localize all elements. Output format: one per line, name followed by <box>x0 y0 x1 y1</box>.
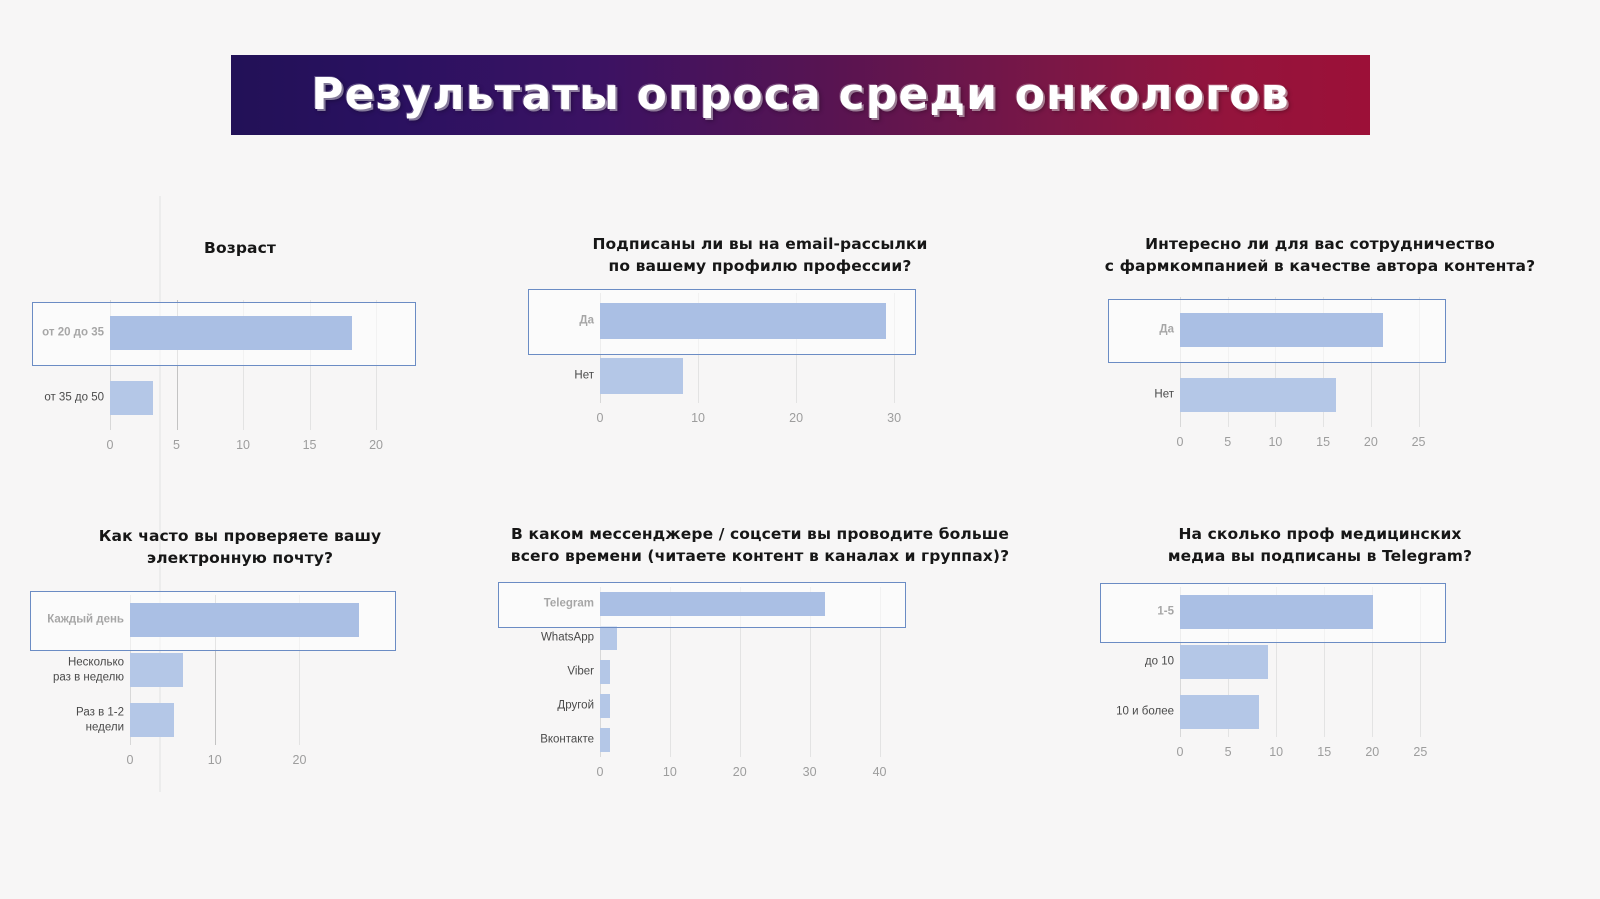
chart-title: На сколько проф медицинских медиа вы под… <box>1040 523 1600 567</box>
x-tick-0: 0 <box>1177 435 1184 449</box>
bar-row: Другой <box>600 689 890 723</box>
x-axis-tick-labels: 010203040 <box>600 765 890 785</box>
chart-title: Возраст <box>0 237 480 259</box>
bar-1[interactable] <box>130 653 183 687</box>
bar-0[interactable] <box>600 303 886 339</box>
x-axis-tick-labels: 05101520 <box>110 438 400 458</box>
x-axis-tick-labels: 0510152025 <box>1180 745 1430 765</box>
bar-row: Раз в 1-2 недели <box>130 695 380 745</box>
x-axis-tick-labels: 0510152025 <box>1180 435 1430 455</box>
category-label: от 20 до 35 <box>16 325 104 340</box>
category-label: от 35 до 50 <box>16 390 104 405</box>
chart-title: В каком мессенджере / соцсети вы проводи… <box>480 523 1040 567</box>
bar-row: Нет <box>600 348 900 403</box>
bar-row: до 10 <box>1180 637 1430 687</box>
bar-row: 1-5 <box>1180 587 1430 637</box>
x-tick-20: 20 <box>1365 745 1379 759</box>
bar-row: Нет <box>1180 362 1430 427</box>
x-tick-15: 15 <box>1317 745 1331 759</box>
plot-area: 1-5до 1010 и более0510152025 <box>1180 587 1430 737</box>
chart-row: Как часто вы проверяете вашу электронную… <box>0 495 1600 795</box>
bar-0[interactable] <box>1180 313 1383 347</box>
chart-title: Как часто вы проверяете вашу электронную… <box>0 525 480 569</box>
category-label: 10 и более <box>1094 705 1174 720</box>
bar-row: WhatsApp <box>600 621 890 655</box>
category-label: Telegram <box>492 597 594 612</box>
bar-row: Telegram <box>600 587 890 621</box>
plot-area: ДаНет0102030 <box>600 293 900 403</box>
x-tick-10: 10 <box>691 411 705 425</box>
bar-1[interactable] <box>600 626 617 650</box>
bar-row: 10 и более <box>1180 687 1430 737</box>
category-label: WhatsApp <box>492 631 594 646</box>
x-tick-10: 10 <box>1268 435 1282 449</box>
bar-2[interactable] <box>1180 695 1259 729</box>
bar-1[interactable] <box>1180 378 1336 412</box>
x-tick-20: 20 <box>369 438 383 452</box>
x-tick-0: 0 <box>107 438 114 452</box>
x-tick-10: 10 <box>236 438 250 452</box>
x-tick-0: 0 <box>597 765 604 779</box>
chart-messenger-usage: В каком мессенджере / соцсети вы проводи… <box>480 495 1040 795</box>
chart-title: Интересно ли для вас сотрудничество с фа… <box>1040 233 1600 277</box>
x-tick-5: 5 <box>173 438 180 452</box>
bar-row: Да <box>600 293 900 348</box>
category-label: Нет <box>1102 387 1174 402</box>
x-tick-30: 30 <box>887 411 901 425</box>
category-label: до 10 <box>1094 655 1174 670</box>
category-label: Каждый день <box>24 613 124 628</box>
x-tick-20: 20 <box>733 765 747 779</box>
category-label: Другой <box>492 699 594 714</box>
bar-1[interactable] <box>1180 645 1268 679</box>
x-tick-10: 10 <box>1269 745 1283 759</box>
x-tick-0: 0 <box>597 411 604 425</box>
x-tick-5: 5 <box>1224 435 1231 449</box>
x-tick-10: 10 <box>208 753 222 767</box>
bar-4[interactable] <box>600 728 610 752</box>
category-label: Вконтакте <box>492 733 594 748</box>
survey-charts-grid: Возрастот 20 до 35от 35 до 5005101520Под… <box>0 205 1600 795</box>
x-tick-25: 25 <box>1412 435 1426 449</box>
plot-area: ДаНет0510152025 <box>1180 297 1430 427</box>
page-title-banner: Результаты опроса среди онкологов <box>231 55 1370 135</box>
bar-row: Да <box>1180 297 1430 362</box>
bar-0[interactable] <box>1180 595 1373 629</box>
category-label: Да <box>522 313 594 328</box>
bar-0[interactable] <box>600 592 825 616</box>
bar-1[interactable] <box>110 381 153 415</box>
x-tick-0: 0 <box>1177 745 1184 759</box>
chart-pharma-collaboration: Интересно ли для вас сотрудничество с фа… <box>1040 205 1600 495</box>
chart-email-subscriptions: Подписаны ли вы на email-рассылки по ваш… <box>480 205 1040 495</box>
bar-row: Несколько раз в неделю <box>130 645 380 695</box>
bar-2[interactable] <box>130 703 174 737</box>
x-tick-20: 20 <box>293 753 307 767</box>
bar-3[interactable] <box>600 694 610 718</box>
chart-title: Подписаны ли вы на email-рассылки по ваш… <box>480 233 1040 277</box>
x-tick-0: 0 <box>127 753 134 767</box>
bar-0[interactable] <box>110 316 352 350</box>
chart-telegram-media-count: На сколько проф медицинских медиа вы под… <box>1040 495 1600 795</box>
x-tick-5: 5 <box>1225 745 1232 759</box>
category-label: Нет <box>522 368 594 383</box>
bar-row: Каждый день <box>130 595 380 645</box>
x-tick-20: 20 <box>1364 435 1378 449</box>
bar-row: от 20 до 35 <box>110 300 400 365</box>
page-title: Результаты опроса среди онкологов <box>311 73 1290 117</box>
chart-row: Возрастот 20 до 35от 35 до 5005101520Под… <box>0 205 1600 495</box>
x-tick-10: 10 <box>663 765 677 779</box>
x-tick-20: 20 <box>789 411 803 425</box>
x-tick-40: 40 <box>873 765 887 779</box>
plot-area: от 20 до 35от 35 до 5005101520 <box>110 300 400 430</box>
chart-email-frequency: Как часто вы проверяете вашу электронную… <box>0 495 480 795</box>
bar-0[interactable] <box>130 603 359 637</box>
category-label: Раз в 1-2 недели <box>24 705 124 734</box>
plot-area: Каждый деньНесколько раз в неделюРаз в 1… <box>130 595 380 745</box>
chart-age: Возрастот 20 до 35от 35 до 5005101520 <box>0 205 480 495</box>
bar-1[interactable] <box>600 358 683 394</box>
x-axis-tick-labels: 01020 <box>130 753 380 773</box>
category-label: Да <box>1102 322 1174 337</box>
x-tick-30: 30 <box>803 765 817 779</box>
bar-row: Вконтакте <box>600 723 890 757</box>
x-tick-25: 25 <box>1413 745 1427 759</box>
x-axis-tick-labels: 0102030 <box>600 411 900 431</box>
plot-area: TelegramWhatsAppViberДругойВконтакте0102… <box>600 587 890 757</box>
bar-row: Viber <box>600 655 890 689</box>
category-label: Viber <box>492 665 594 680</box>
x-tick-15: 15 <box>303 438 317 452</box>
bar-2[interactable] <box>600 660 610 684</box>
category-label: Несколько раз в неделю <box>24 655 124 684</box>
bar-row: от 35 до 50 <box>110 365 400 430</box>
x-tick-15: 15 <box>1316 435 1330 449</box>
category-label: 1-5 <box>1094 605 1174 620</box>
